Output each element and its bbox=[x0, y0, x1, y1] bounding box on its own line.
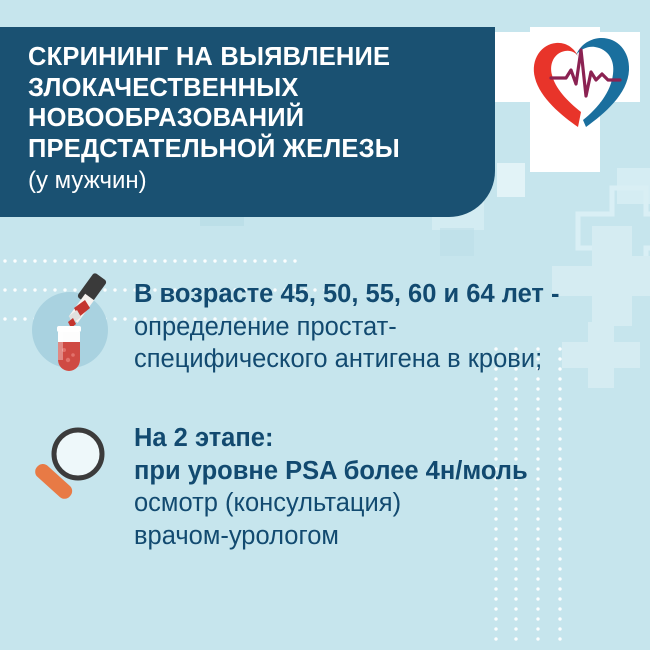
content-block-blood-test: В возрасте 45, 50, 55, 60 и 64 лет - опр… bbox=[24, 272, 559, 381]
pale-square-6 bbox=[0, 0, 650, 27]
page-title-line-1: СКРИНИНГ НА ВЫЯВЛЕНИЕ bbox=[28, 42, 475, 73]
stage-two-line-4: врачом-урологом bbox=[134, 520, 528, 553]
logo-red-swoosh bbox=[534, 43, 581, 127]
page-subtitle: (у мужчин) bbox=[28, 166, 475, 196]
outline-cross-upper-right bbox=[578, 188, 650, 274]
light-cross-right-mid bbox=[552, 226, 650, 326]
magnifier-ring bbox=[54, 430, 102, 478]
blood-test-line-3: специфического антигена в крови; bbox=[134, 343, 559, 376]
page-title-line-2: ЗЛОКАЧЕСТВЕННЫХ bbox=[28, 73, 475, 104]
stage-two-line-2: при уровне PSA более 4н/моль bbox=[134, 455, 528, 488]
test-tube bbox=[57, 326, 81, 371]
heart-ecg-logo bbox=[528, 28, 636, 138]
magnifying-glass-icon bbox=[24, 418, 116, 527]
stage-two-line-3: осмотр (консультация) bbox=[134, 487, 528, 520]
pale-square-5 bbox=[440, 228, 474, 256]
stage-two-line-1: На 2 этапе: bbox=[134, 422, 528, 455]
header-panel: СКРИНИНГ НА ВЫЯВЛЕНИЕ ЗЛОКАЧЕСТВЕННЫХ НО… bbox=[0, 27, 495, 217]
pale-square-3 bbox=[497, 163, 525, 197]
dotted-line-v-3 bbox=[536, 344, 540, 644]
dotted-line-v-4 bbox=[558, 344, 562, 644]
blood-test-line-1: В возрасте 45, 50, 55, 60 и 64 лет - bbox=[134, 278, 559, 311]
page-title-line-4: ПРЕДСТАТЕЛЬНОЙ ЖЕЛЕЗЫ bbox=[28, 134, 475, 165]
stage-two-text: На 2 этапе: при уровне PSA более 4н/моль… bbox=[134, 422, 528, 552]
blood-test-line-2: определение простат- bbox=[134, 311, 559, 344]
page-title-line-3: НОВООБРАЗОВАНИЙ bbox=[28, 103, 475, 134]
light-cross-right-lower bbox=[562, 322, 640, 388]
page-title: СКРИНИНГ НА ВЫЯВЛЕНИЕ ЗЛОКАЧЕСТВЕННЫХ НО… bbox=[28, 42, 475, 164]
pale-square-4 bbox=[617, 168, 650, 204]
blood-test-text: В возрасте 45, 50, 55, 60 и 64 лет - опр… bbox=[134, 278, 559, 376]
content-block-stage-two: На 2 этапе: при уровне PSA более 4н/моль… bbox=[24, 418, 528, 552]
blood-test-tube-icon bbox=[24, 272, 116, 381]
infographic-poster: СКРИНИНГ НА ВЫЯВЛЕНИЕ ЗЛОКАЧЕСТВЕННЫХ НО… bbox=[0, 0, 650, 650]
dotted-line-h-1 bbox=[0, 259, 300, 263]
